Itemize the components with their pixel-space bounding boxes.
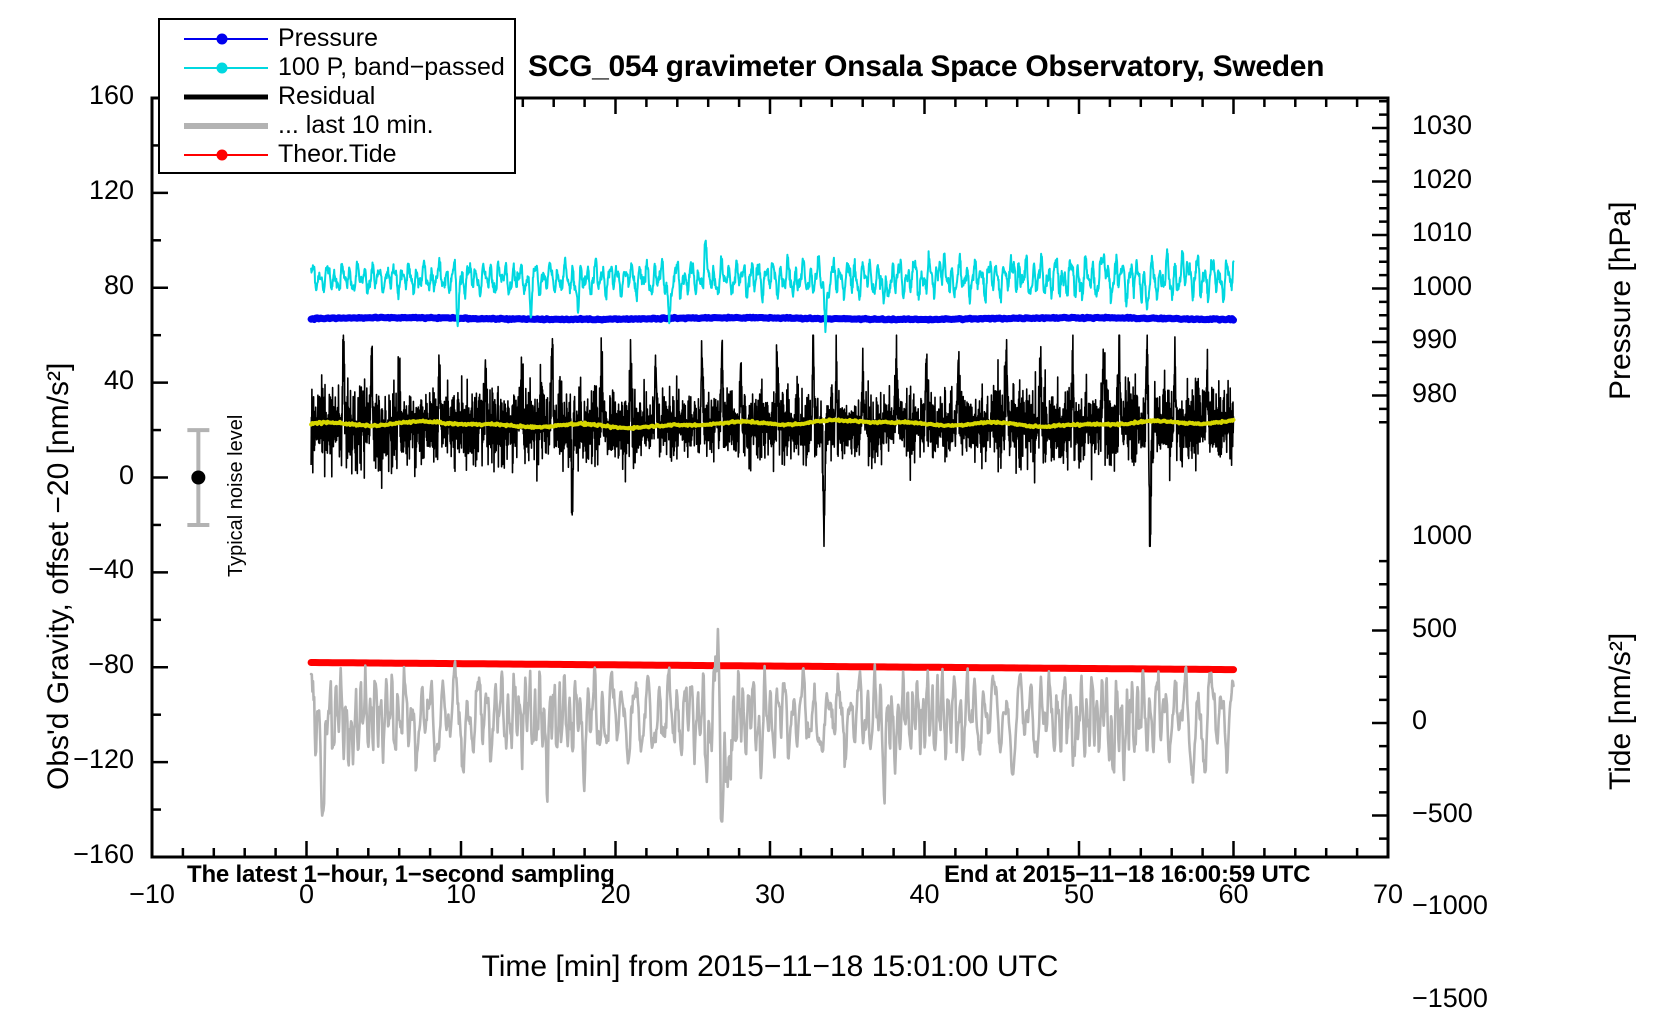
legend: Pressure100 P, band−passedResidual... la… bbox=[158, 18, 516, 174]
legend-item-1[interactable]: 100 P, band−passed bbox=[160, 53, 514, 82]
x-tick-4: 30 bbox=[755, 879, 785, 910]
y-left-tick-4: 0 bbox=[119, 460, 134, 491]
legend-label: Theor.Tide bbox=[268, 140, 397, 169]
tide-tick-5: −1500 bbox=[1412, 983, 1488, 1014]
pressure-tick-1: 1020 bbox=[1412, 164, 1472, 195]
tide-tick-3: −500 bbox=[1412, 798, 1473, 829]
legend-label: 100 P, band−passed bbox=[268, 53, 505, 82]
pressure-tick-2: 1010 bbox=[1412, 217, 1472, 248]
legend-marker-dot bbox=[217, 33, 228, 44]
y-left-tick-1: 120 bbox=[89, 175, 134, 206]
y-left-tick-6: −80 bbox=[88, 649, 134, 680]
page-title: SCG_054 gravimeter Onsala Space Observat… bbox=[528, 50, 1324, 84]
y-left-tick-8: −160 bbox=[73, 839, 134, 870]
pressure-tick-0: 1030 bbox=[1412, 110, 1472, 141]
sampling-annotation: The latest 1−hour, 1−second sampling bbox=[187, 861, 615, 889]
y-axis-tide-title: Tide [nm/s²] bbox=[1604, 633, 1638, 790]
legend-marker-dot bbox=[217, 62, 228, 73]
tide-tick-1: 500 bbox=[1412, 613, 1457, 644]
y-axis-pressure-title: Pressure [hPa] bbox=[1604, 202, 1638, 400]
end-time-annotation: End at 2015−11−18 16:00:59 UTC bbox=[944, 861, 1310, 889]
tide-tick-0: 1000 bbox=[1412, 520, 1472, 551]
trace-last-10-min bbox=[311, 629, 1233, 821]
pressure-tick-4: 990 bbox=[1412, 324, 1457, 355]
pressure-tick-5: 980 bbox=[1412, 378, 1457, 409]
x-tick-0: −10 bbox=[129, 879, 175, 910]
pressure-tick-3: 1000 bbox=[1412, 271, 1472, 302]
legend-label: Pressure bbox=[268, 24, 378, 53]
legend-swatch-icon bbox=[184, 58, 268, 78]
noise-level-label: Typical noise level bbox=[225, 415, 248, 577]
legend-marker-dot bbox=[217, 149, 228, 160]
tide-tick-2: 0 bbox=[1412, 705, 1427, 736]
legend-item-3[interactable]: ... last 10 min. bbox=[160, 111, 514, 140]
legend-swatch-icon bbox=[184, 116, 268, 136]
y-left-tick-7: −120 bbox=[73, 744, 134, 775]
tide-tick-4: −1000 bbox=[1412, 890, 1488, 921]
legend-item-2[interactable]: Residual bbox=[160, 82, 514, 111]
legend-swatch-icon bbox=[184, 87, 268, 107]
y-left-tick-5: −40 bbox=[88, 554, 134, 585]
legend-label: Residual bbox=[268, 82, 375, 111]
legend-swatch-icon bbox=[184, 29, 268, 49]
trace-pressure bbox=[311, 317, 1233, 320]
x-tick-5: 40 bbox=[909, 879, 939, 910]
y-left-tick-3: 40 bbox=[104, 365, 134, 396]
legend-item-0[interactable]: Pressure bbox=[160, 24, 514, 53]
legend-line bbox=[184, 94, 268, 99]
legend-line bbox=[184, 123, 268, 129]
x-tick-8: 70 bbox=[1373, 879, 1403, 910]
gravimeter-plot: SCG_054 gravimeter Onsala Space Observat… bbox=[0, 0, 1660, 1020]
noise-bar-dot bbox=[191, 471, 205, 485]
x-axis-title: Time [min] from 2015−11−18 15:01:00 UTC bbox=[482, 950, 1059, 984]
legend-label: ... last 10 min. bbox=[268, 111, 434, 140]
trace-residual bbox=[311, 335, 1233, 546]
y-left-tick-2: 80 bbox=[104, 270, 134, 301]
trace-theoretical-tide bbox=[311, 663, 1233, 670]
y-left-tick-0: 160 bbox=[89, 80, 134, 111]
y-axis-left-title: Obs'd Gravity, offset −20 [nm/s²] bbox=[42, 363, 76, 790]
legend-swatch-icon bbox=[184, 145, 268, 165]
legend-item-4[interactable]: Theor.Tide bbox=[160, 140, 514, 169]
